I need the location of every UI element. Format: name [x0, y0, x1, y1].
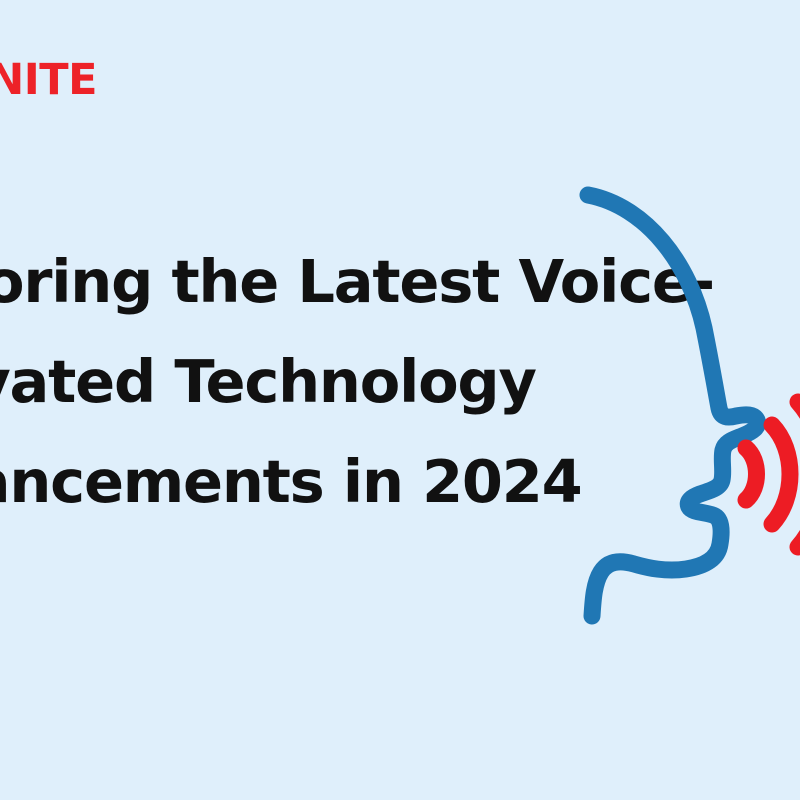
soundwave-arc-medium	[772, 425, 790, 524]
soundwave-arc-small	[746, 448, 757, 500]
speaking-face-svg	[556, 160, 800, 640]
banner-canvas: IGNITE Exploring the Latest Voice- Activ…	[0, 0, 800, 800]
face-profile-path	[588, 195, 758, 616]
brand-logo-text: IGNITE	[0, 56, 97, 104]
speaking-face-illustration	[556, 160, 800, 640]
brand-logo[interactable]: IGNITE	[0, 56, 97, 104]
